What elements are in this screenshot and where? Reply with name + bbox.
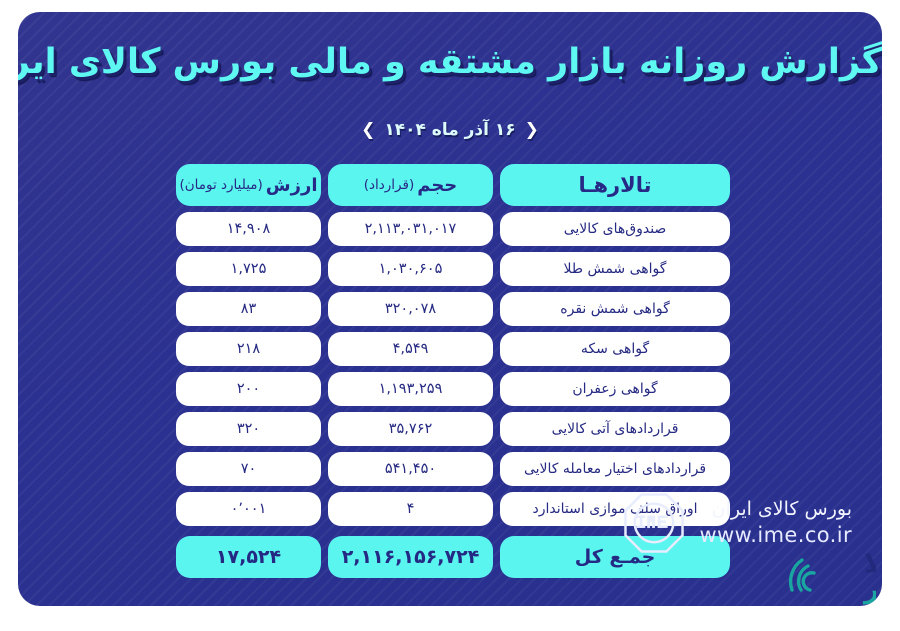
row-value: ۱۴,۹۰۸ — [176, 212, 321, 246]
brand-name: بورس کالای ایران — [699, 498, 852, 522]
report-date: ۱۶ آذر ماه ۱۴۰۴ — [384, 120, 515, 140]
total-value: ۱۷,۵۲۴ — [176, 536, 321, 578]
row-volume: ۱,۰۳۰,۶۰۵ — [328, 252, 493, 286]
table-row: گواهی زعفران ۱,۱۹۳,۲۵۹ ۲۰۰ — [176, 372, 730, 406]
row-volume: ۴ — [328, 492, 493, 526]
column-header-value-label: ارزش — [266, 175, 318, 196]
row-value: ۷۰ — [176, 452, 321, 486]
column-header-halls-label: تالارهـا — [578, 173, 651, 197]
row-volume: ۵۴۱,۴۵۰ — [328, 452, 493, 486]
row-name: قراردادهای آتی کالایی — [500, 412, 730, 446]
infographic-page: گزارش روزانه بازار مشتقه و مالی بورس کال… — [0, 0, 900, 631]
total-volume: ۲,۱۱۶,۱۵۶,۷۲۴ — [328, 536, 493, 578]
column-header-volume: حجم(قرارداد) — [328, 164, 493, 206]
row-volume: ۲,۱۱۳,۰۳۱,۰۱۷ — [328, 212, 493, 246]
row-value: ۲۰۰ — [176, 372, 321, 406]
row-name: گواهی شمش نقره — [500, 292, 730, 326]
column-header-volume-label: حجم — [417, 175, 457, 196]
row-name: قراردادهای اختیار معامله کالایی — [500, 452, 730, 486]
table-row: گواهی شمش طلا ۱,۰۳۰,۶۰۵ ۱,۷۲۵ — [176, 252, 730, 286]
ime-logo-icon — [623, 492, 685, 554]
row-name: گواهی سکه — [500, 332, 730, 366]
row-value: ۱,۷۲۵ — [176, 252, 321, 286]
table-row: قراردادهای آتی کالایی ۳۵,۷۶۲ ۳۲۰ — [176, 412, 730, 446]
row-value: ۲۱۸ — [176, 332, 321, 366]
chevron-left-icon: ❯ — [361, 122, 375, 139]
row-volume: ۱,۱۹۳,۲۵۹ — [328, 372, 493, 406]
table-row: صندوق‌های کالایی ۲,۱۱۳,۰۳۱,۰۱۷ ۱۴,۹۰۸ — [176, 212, 730, 246]
row-name: صندوق‌های کالایی — [500, 212, 730, 246]
page-title: گزارش روزانه بازار مشتقه و مالی بورس کال… — [18, 42, 882, 82]
row-name: گواهی شمش طلا — [500, 252, 730, 286]
table-row: قراردادهای اختیار معامله کالایی ۵۴۱,۴۵۰ … — [176, 452, 730, 486]
kalakhabar-watermark-icon: کالا خبر — [772, 528, 876, 606]
chevron-right-icon: ❮ — [525, 122, 539, 139]
table-row: گواهی شمش نقره ۳۲۰,۰۷۸ ۸۳ — [176, 292, 730, 326]
report-card: گزارش روزانه بازار مشتقه و مالی بورس کال… — [18, 12, 882, 606]
row-value: ۳۲۰ — [176, 412, 321, 446]
row-volume: ۳۲۰,۰۷۸ — [328, 292, 493, 326]
column-header-value-unit: (میلیارد تومان) — [179, 177, 262, 193]
report-date-bar: ❮ ۱۶ آذر ماه ۱۴۰۴ ❯ — [18, 120, 882, 140]
column-header-halls: تالارهـا — [500, 164, 730, 206]
row-value: ۸۳ — [176, 292, 321, 326]
row-volume: ۴,۵۴۹ — [328, 332, 493, 366]
table-header-row: تالارهـا حجم(قرارداد) ارزش(میلیارد تومان… — [176, 164, 730, 206]
table-row: گواهی سکه ۴,۵۴۹ ۲۱۸ — [176, 332, 730, 366]
row-volume: ۳۵,۷۶۲ — [328, 412, 493, 446]
row-name: گواهی زعفران — [500, 372, 730, 406]
row-value: ۰٬۰۰۱ — [176, 492, 321, 526]
watermark-bottom-text: خبر — [862, 574, 876, 605]
column-header-value: ارزش(میلیارد تومان) — [176, 164, 321, 206]
column-header-volume-unit: (قرارداد) — [364, 177, 414, 193]
